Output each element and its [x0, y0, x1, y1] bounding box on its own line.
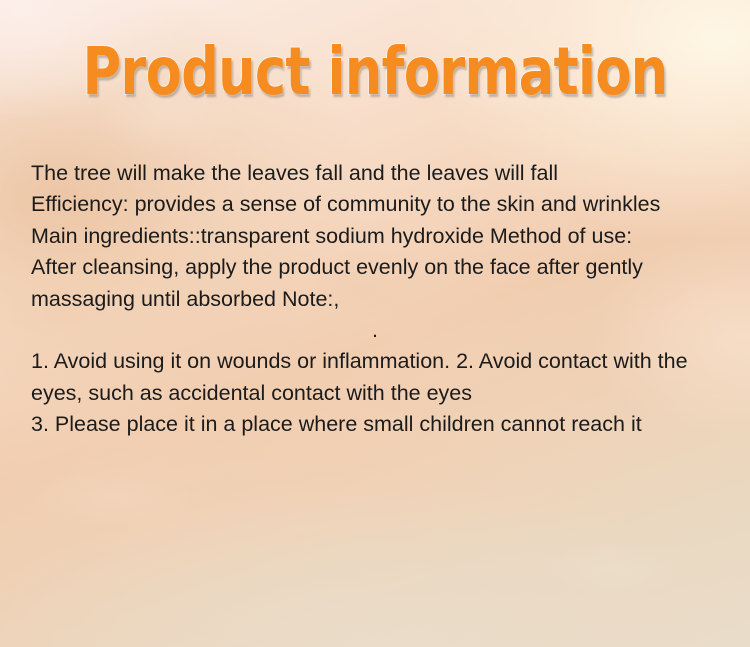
banner-content: Product information The tree will make t… — [0, 0, 750, 647]
paragraph-tree-leaves: The tree will make the leaves fall and t… — [31, 158, 736, 189]
paragraph-warnings-1-2: 1. Avoid using it on wounds or inflammat… — [31, 346, 736, 409]
paragraph-main-ingredients: Main ingredients::transparent sodium hyd… — [31, 221, 736, 252]
paragraph-how-to-apply: After cleansing, apply the product evenl… — [31, 252, 736, 315]
product-information-banner: Product information The tree will make t… — [0, 0, 750, 647]
product-description-body: The tree will make the leaves fall and t… — [31, 152, 736, 440]
paragraph-warning-3: 3. Please place it in a place where smal… — [31, 409, 736, 440]
paragraph-efficiency: Efficiency: provides a sense of communit… — [31, 189, 736, 220]
paragraph-stray-period: . — [31, 315, 736, 346]
page-title: Product information — [75, 36, 675, 108]
